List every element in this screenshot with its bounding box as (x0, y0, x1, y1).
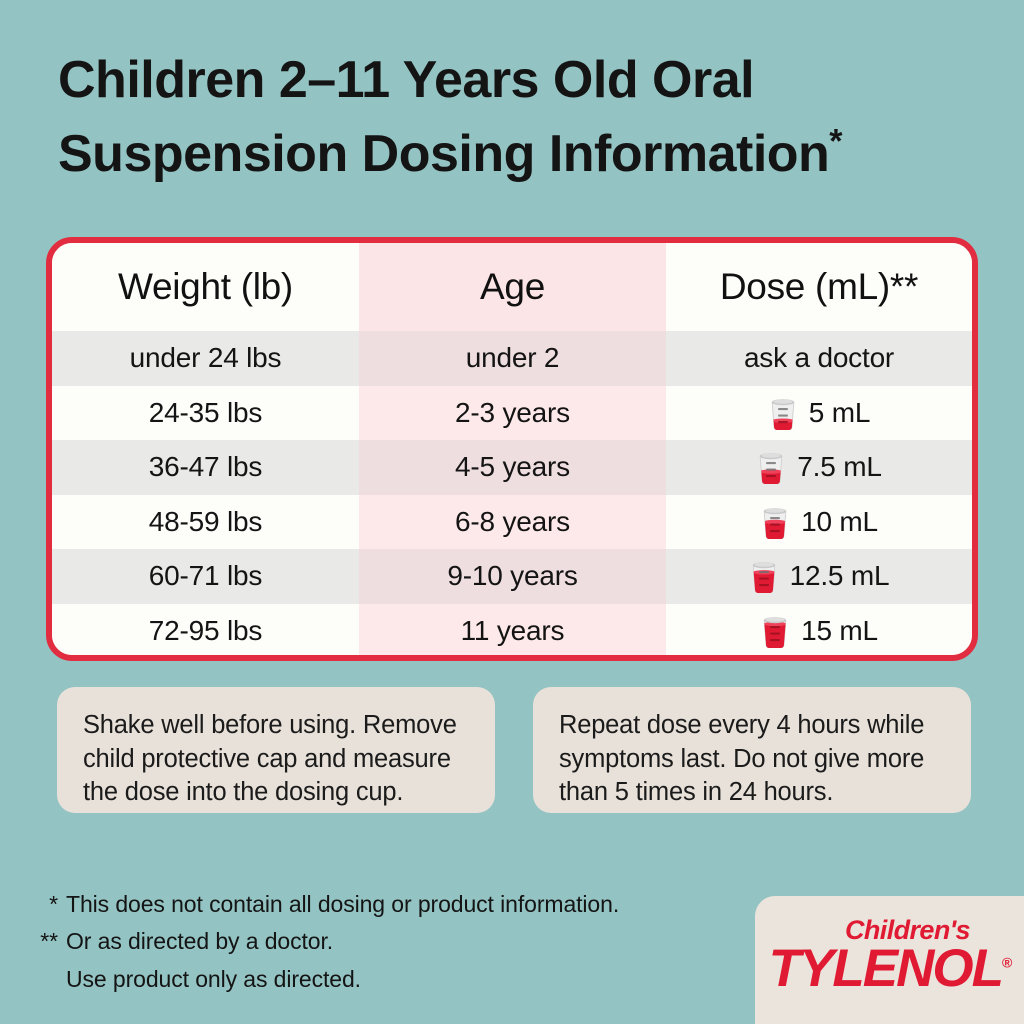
cell-dose: 5 mL (666, 386, 972, 441)
dose-value-group: 7.5 mL (756, 450, 881, 484)
page-title-line-1: Children 2–11 Years Old Oral (58, 51, 754, 109)
footnote-line: Use product only as directed. (30, 961, 730, 998)
footnote-marker: ** (30, 923, 66, 960)
cell-age: 9-10 years (359, 549, 666, 604)
dosing-cup-icon (760, 614, 790, 648)
column-header-dose: Dose (mL)** (666, 243, 972, 331)
cell-age: 2-3 years (359, 386, 666, 441)
weight-value: under 24 lbs (130, 342, 282, 374)
title-asterisk: * (829, 123, 842, 161)
cell-age: 11 years (359, 604, 666, 659)
brand-name-tylenol: TYLENOL® (769, 942, 1011, 995)
instruction-text-right: Repeat dose every 4 hours while symptoms… (559, 709, 945, 810)
weight-value: 60-71 lbs (149, 560, 262, 592)
age-value: 9-10 years (447, 560, 577, 592)
table-header-row: Weight (lb) Age Dose (mL)** (52, 243, 972, 331)
dose-value: 12.5 mL (790, 560, 890, 592)
instruction-text-left: Shake well before using. Remove child pr… (83, 709, 469, 810)
cell-dose: 7.5 mL (666, 440, 972, 495)
instruction-box-repeat-dose: Repeat dose every 4 hours while symptoms… (533, 687, 971, 813)
cell-weight: 24-35 lbs (52, 386, 359, 441)
dose-value: 10 mL (801, 506, 878, 538)
cell-dose: 10 mL (666, 495, 972, 550)
cell-dose: ask a doctor (666, 331, 972, 386)
cell-age: 6-8 years (359, 495, 666, 550)
footnotes: *This does not contain all dosing or pro… (30, 886, 730, 998)
page-title: Children 2–11 Years Old Oral Suspension … (58, 44, 988, 192)
weight-value: 36-47 lbs (149, 451, 262, 483)
cell-weight: 48-59 lbs (52, 495, 359, 550)
footnote-text: This does not contain all dosing or prod… (66, 886, 619, 923)
dosing-table: Weight (lb) Age Dose (mL)** under 24 lbs… (46, 237, 978, 661)
dose-value-group: 15 mL (760, 614, 878, 648)
table-row: 72-95 lbs11 years15 mL (52, 604, 972, 659)
cell-weight: 72-95 lbs (52, 604, 359, 659)
footnote-text: Use product only as directed. (66, 961, 361, 998)
dose-value: ask a doctor (744, 342, 894, 374)
column-header-age: Age (359, 243, 666, 331)
weight-value: 72-95 lbs (149, 615, 262, 647)
footnote-marker: * (30, 886, 66, 923)
cell-dose: 15 mL (666, 604, 972, 659)
brand-wordmark: TYLENOL (769, 939, 1002, 998)
cell-dose: 12.5 mL (666, 549, 972, 604)
age-value: 6-8 years (455, 506, 570, 538)
cell-age: under 2 (359, 331, 666, 386)
dosing-cup-icon (768, 396, 798, 430)
table-row: 48-59 lbs6-8 years10 mL (52, 495, 972, 550)
table-row: 24-35 lbs2-3 years5 mL (52, 386, 972, 441)
dosing-cup-icon (749, 559, 779, 593)
cell-weight: 60-71 lbs (52, 549, 359, 604)
dose-value: 7.5 mL (797, 451, 881, 483)
page-title-line-2: Suspension Dosing Information (58, 125, 829, 183)
footnote-line: **Or as directed by a doctor. (30, 923, 730, 960)
dose-value: 5 mL (809, 397, 870, 429)
dose-value: 15 mL (801, 615, 878, 647)
dose-value-group: ask a doctor (744, 342, 894, 374)
dosing-cup-icon (756, 450, 786, 484)
age-value: 4-5 years (455, 451, 570, 483)
table-body: under 24 lbsunder 2ask a doctor24-35 lbs… (52, 331, 972, 658)
registered-trademark-icon: ® (1002, 954, 1010, 970)
weight-value: 48-59 lbs (149, 506, 262, 538)
age-value: 2-3 years (455, 397, 570, 429)
cell-weight: 36-47 lbs (52, 440, 359, 495)
dose-value-group: 5 mL (768, 396, 870, 430)
dosing-cup-icon (760, 505, 790, 539)
instruction-box-shake-well: Shake well before using. Remove child pr… (57, 687, 495, 813)
table-row: 36-47 lbs4-5 years7.5 mL (52, 440, 972, 495)
footnote-line: *This does not contain all dosing or pro… (30, 886, 730, 923)
age-value: 11 years (461, 615, 565, 647)
cell-age: 4-5 years (359, 440, 666, 495)
table-row: under 24 lbsunder 2ask a doctor (52, 331, 972, 386)
dose-value-group: 12.5 mL (749, 559, 890, 593)
table-row: 60-71 lbs9-10 years12.5 mL (52, 549, 972, 604)
brand-logo-plate: Children's TYLENOL® (755, 896, 1024, 1024)
footnote-marker (30, 961, 66, 998)
footnote-text: Or as directed by a doctor. (66, 923, 333, 960)
dose-value-group: 10 mL (760, 505, 878, 539)
weight-value: 24-35 lbs (149, 397, 262, 429)
column-header-weight: Weight (lb) (52, 243, 359, 331)
cell-weight: under 24 lbs (52, 331, 359, 386)
age-value: under 2 (466, 342, 560, 374)
brand-logo: Children's TYLENOL® (769, 917, 1011, 995)
